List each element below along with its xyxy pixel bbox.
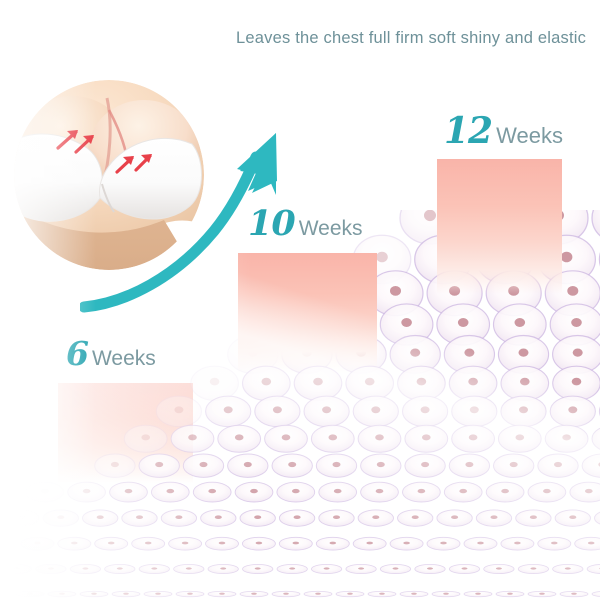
label-12-weeks-number: 12 xyxy=(444,110,492,152)
label-6-weeks-word: Weeks xyxy=(92,347,156,370)
label-10-weeks-word: Weeks xyxy=(299,217,363,240)
bar-12-weeks xyxy=(437,159,562,294)
headline-text: Leaves the chest full firm soft shiny an… xyxy=(236,29,586,48)
label-12-weeks-word: Weeks xyxy=(496,123,563,148)
bar-12-weeks-fill xyxy=(437,159,562,294)
promo-canvas: 6Weeks 10Weeks 12Weeks xyxy=(0,0,600,600)
label-12-weeks: 12Weeks xyxy=(444,110,563,152)
label-6-weeks: 6Weeks xyxy=(66,334,156,373)
upward-growth-arrow xyxy=(80,125,295,315)
label-6-weeks-number: 6 xyxy=(66,334,88,373)
bar-6-weeks xyxy=(58,383,193,483)
bar-6-weeks-fill xyxy=(58,383,193,483)
upward-growth-arrow-svg xyxy=(80,125,295,315)
